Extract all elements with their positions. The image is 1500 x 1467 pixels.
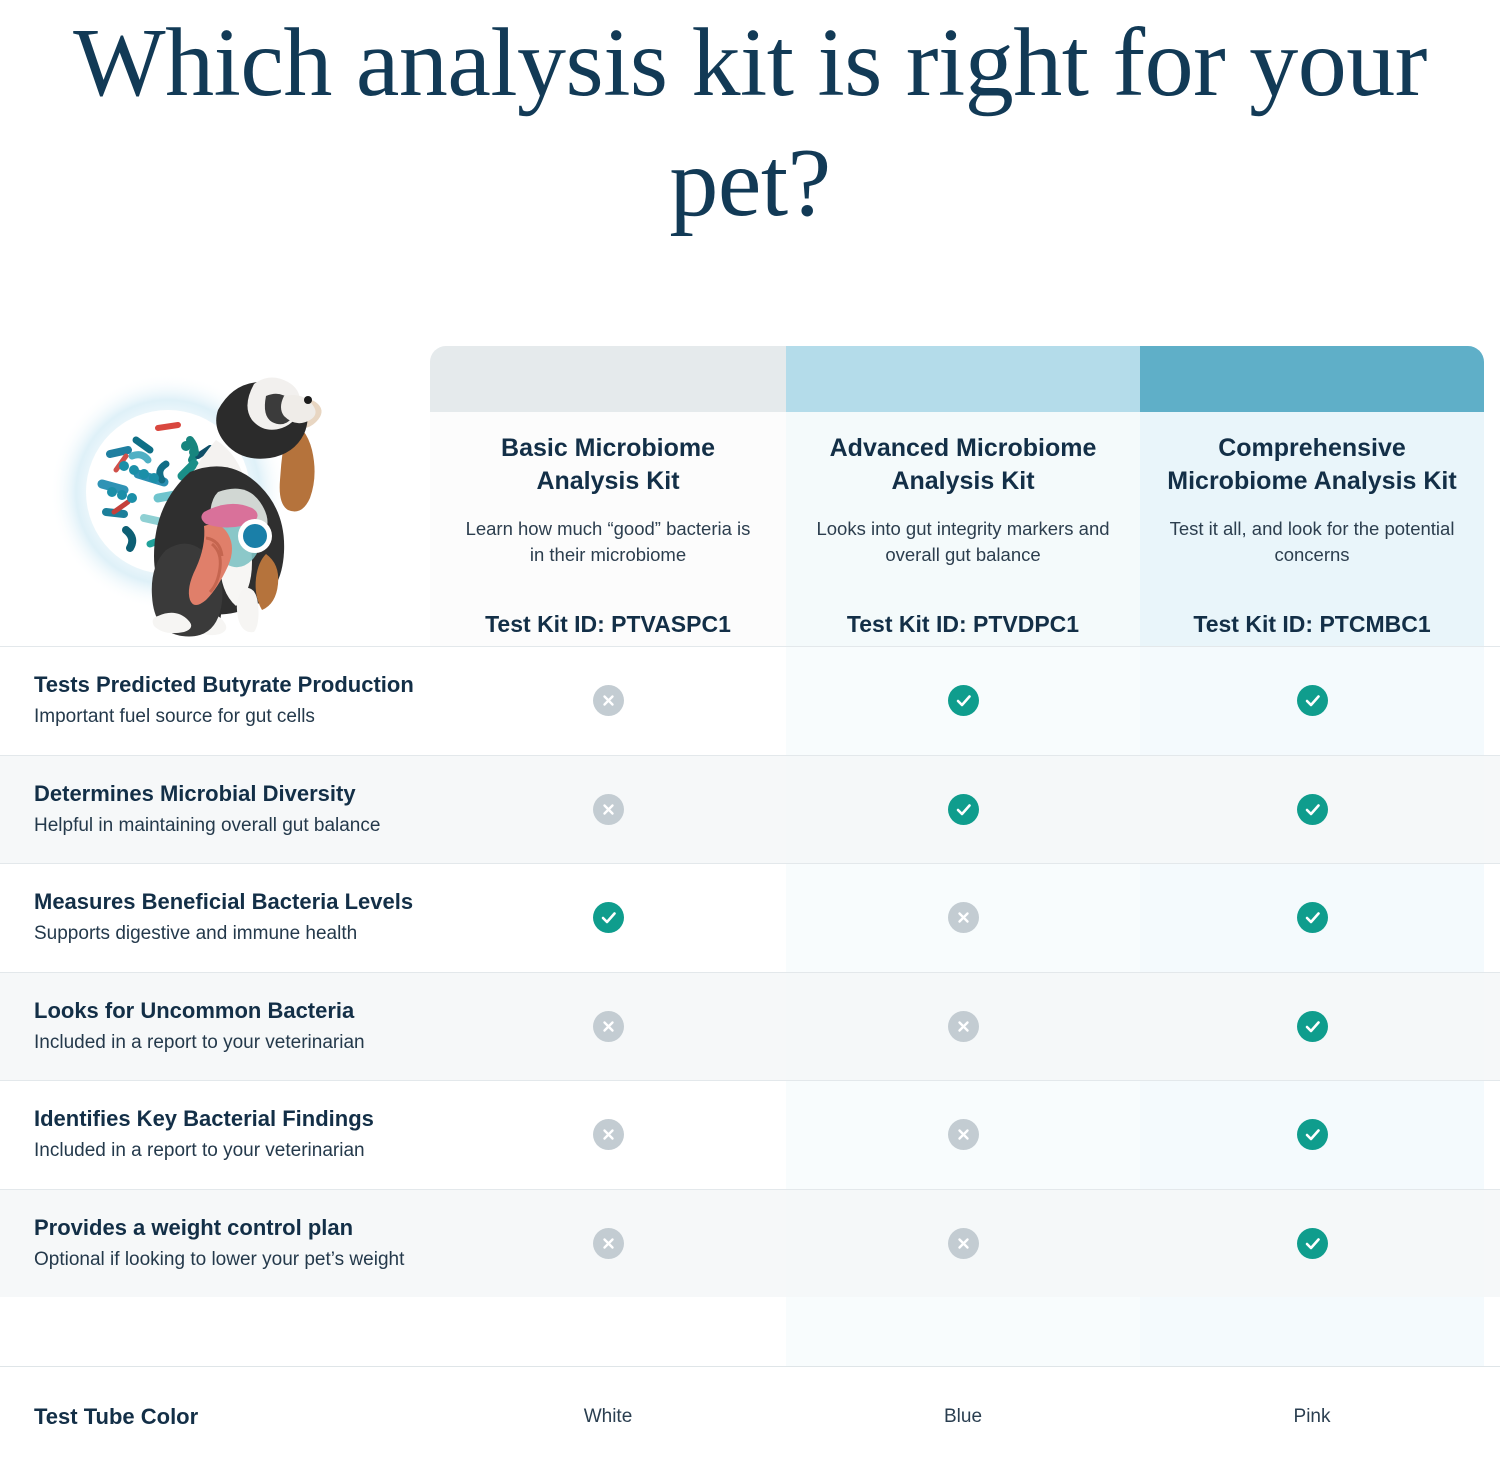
check-circle-icon xyxy=(948,685,979,716)
feature-mark-basic xyxy=(430,1011,786,1042)
x-circle-icon xyxy=(948,1011,979,1042)
page-title: Which analysis kit is right for your pet… xyxy=(0,0,1500,243)
kit-description: Test it all, and look for the potential … xyxy=(1140,516,1484,567)
feature-marks xyxy=(430,685,1500,716)
feature-mark-advanced xyxy=(786,1011,1140,1042)
feature-title: Identifies Key Bacterial Findings xyxy=(34,1105,430,1133)
feature-label-cell: Determines Microbial DiversityHelpful in… xyxy=(0,780,430,839)
feature-mark-basic xyxy=(430,1228,786,1259)
feature-mark-comprehensive xyxy=(1140,902,1484,933)
feature-row: Provides a weight control planOptional i… xyxy=(0,1189,1500,1298)
tube-color-label: Test Tube Color xyxy=(34,1404,430,1430)
feature-subtitle: Important fuel source for gut cells xyxy=(34,705,430,730)
feature-label-cell: Measures Beneficial Bacteria LevelsSuppo… xyxy=(0,888,430,947)
feature-mark-comprehensive xyxy=(1140,1011,1484,1042)
feature-marks xyxy=(430,902,1500,933)
feature-marks xyxy=(430,1228,1500,1259)
feature-mark-basic xyxy=(430,685,786,716)
feature-title: Determines Microbial Diversity xyxy=(34,780,430,808)
feature-marks xyxy=(430,1119,1500,1150)
feature-subtitle: Helpful in maintaining overall gut balan… xyxy=(34,814,430,839)
feature-marks xyxy=(430,1011,1500,1042)
feature-mark-basic xyxy=(430,1119,786,1150)
feature-title: Measures Beneficial Bacteria Levels xyxy=(34,888,430,916)
check-circle-icon xyxy=(1297,685,1328,716)
x-circle-icon xyxy=(593,685,624,716)
kit-comparison-table: Basic Microbiome Analysis Kit Learn how … xyxy=(0,346,1500,1366)
feature-mark-basic xyxy=(430,794,786,825)
tube-color-basic: White xyxy=(430,1406,786,1428)
feature-mark-comprehensive xyxy=(1140,685,1484,716)
feature-row: Measures Beneficial Bacteria LevelsSuppo… xyxy=(0,863,1500,972)
feature-title: Tests Predicted Butyrate Production xyxy=(34,671,430,699)
x-circle-icon xyxy=(948,902,979,933)
feature-subtitle: Included in a report to your veterinaria… xyxy=(34,1139,430,1164)
x-circle-icon xyxy=(593,1228,624,1259)
feature-rows: Tests Predicted Butyrate ProductionImpor… xyxy=(0,646,1500,1297)
feature-row: Identifies Key Bacterial FindingsInclude… xyxy=(0,1080,1500,1189)
feature-mark-comprehensive xyxy=(1140,1119,1484,1150)
tube-color-comprehensive: Pink xyxy=(1140,1406,1484,1428)
feature-row: Tests Predicted Butyrate ProductionImpor… xyxy=(0,646,1500,755)
kit-name: Basic Microbiome Analysis Kit xyxy=(430,432,786,498)
feature-mark-comprehensive xyxy=(1140,794,1484,825)
check-circle-icon xyxy=(593,902,624,933)
feature-label-cell: Tests Predicted Butyrate ProductionImpor… xyxy=(0,671,430,730)
check-circle-icon xyxy=(1297,902,1328,933)
kit-id: Test Kit ID: PTVDPC1 xyxy=(786,611,1140,638)
feature-mark-advanced xyxy=(786,685,1140,716)
feature-mark-advanced xyxy=(786,1119,1140,1150)
check-circle-icon xyxy=(948,794,979,825)
kit-description: Learn how much “good” bacteria is in the… xyxy=(430,516,786,567)
x-circle-icon xyxy=(593,1119,624,1150)
check-circle-icon xyxy=(1297,794,1328,825)
feature-label-cell: Looks for Uncommon BacteriaIncluded in a… xyxy=(0,997,430,1056)
x-circle-icon xyxy=(593,1011,624,1042)
x-circle-icon xyxy=(948,1228,979,1259)
column-header-advanced: Advanced Microbiome Analysis Kit Looks i… xyxy=(786,432,1140,638)
column-header-comprehensive: Comprehensive Microbiome Analysis Kit Te… xyxy=(1140,432,1484,638)
feature-label-cell: Identifies Key Bacterial FindingsInclude… xyxy=(0,1105,430,1164)
feature-mark-basic xyxy=(430,902,786,933)
column-header-basic: Basic Microbiome Analysis Kit Learn how … xyxy=(430,432,786,638)
feature-mark-advanced xyxy=(786,794,1140,825)
check-circle-icon xyxy=(1297,1119,1328,1150)
x-circle-icon xyxy=(948,1119,979,1150)
x-circle-icon xyxy=(593,794,624,825)
feature-mark-advanced xyxy=(786,902,1140,933)
kit-description: Looks into gut integrity markers and ove… xyxy=(786,516,1140,567)
feature-title: Provides a weight control plan xyxy=(34,1214,430,1242)
kit-name: Comprehensive Microbiome Analysis Kit xyxy=(1140,432,1484,498)
feature-row: Determines Microbial DiversityHelpful in… xyxy=(0,755,1500,864)
kit-name: Advanced Microbiome Analysis Kit xyxy=(786,432,1140,498)
feature-row: Looks for Uncommon BacteriaIncluded in a… xyxy=(0,972,1500,1081)
feature-mark-advanced xyxy=(786,1228,1140,1259)
tube-color-row: Test Tube Color White Blue Pink xyxy=(0,1366,1500,1467)
check-circle-icon xyxy=(1297,1011,1328,1042)
check-circle-icon xyxy=(1297,1228,1328,1259)
feature-marks xyxy=(430,794,1500,825)
kit-id: Test Kit ID: PTVASPC1 xyxy=(430,611,786,638)
feature-mark-comprehensive xyxy=(1140,1228,1484,1259)
tube-color-values: White Blue Pink xyxy=(430,1406,1500,1428)
feature-title: Looks for Uncommon Bacteria xyxy=(34,997,430,1025)
tube-color-label-cell: Test Tube Color xyxy=(0,1404,430,1430)
feature-subtitle: Supports digestive and immune health xyxy=(34,922,430,947)
feature-subtitle: Optional if looking to lower your pet’s … xyxy=(34,1248,430,1273)
kit-id: Test Kit ID: PTCMBC1 xyxy=(1140,611,1484,638)
dog-microbiome-illustration xyxy=(40,344,430,644)
tube-color-advanced: Blue xyxy=(786,1406,1140,1428)
feature-subtitle: Included in a report to your veterinaria… xyxy=(34,1031,430,1056)
feature-label-cell: Provides a weight control planOptional i… xyxy=(0,1214,430,1273)
